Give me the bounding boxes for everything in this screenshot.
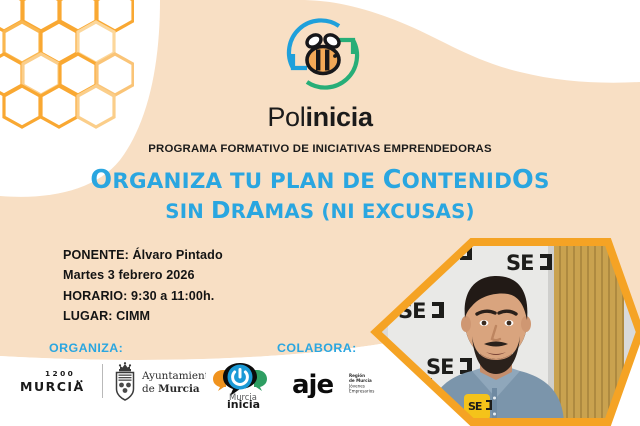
detail-speaker: PONENTE: Álvaro Pintado — [63, 245, 223, 265]
murcia-inicia-line2: inicia — [227, 398, 260, 408]
title-line-2: SIN DRAMAS (NI EXCUSAS) — [0, 197, 640, 223]
wordmark-bold: inicia — [305, 102, 372, 132]
organiza-label: ORGANIZA: — [49, 341, 123, 355]
colabora-label: COLABORA: — [277, 341, 357, 355]
detail-date: Martes 3 febrero 2026 — [63, 265, 223, 285]
organiza-logos: 1200 MURCIA — [14, 358, 264, 410]
aje-main-text: aje — [292, 370, 333, 398]
program-subtitle: PROGRAMA FORMATIVO DE INICIATIVAS EMPREN… — [0, 143, 640, 155]
poster-canvas: Polinicia PROGRAMA FORMATIVO DE INICIATI… — [0, 0, 640, 426]
detail-schedule: HORARIO: 9:30 a 11:00h. — [63, 286, 223, 306]
bee-in-circular-arrows-icon — [277, 8, 369, 100]
backdrop-ser-4: SE — [426, 355, 453, 379]
detail-place: LUGAR: CIMM — [63, 306, 223, 326]
event-details: PONENTE: Álvaro Pintado Martes 3 febrero… — [63, 245, 223, 327]
logo-divider — [102, 364, 103, 398]
mic-ser-label: SE — [468, 400, 482, 413]
murcia-coat-of-arms-icon — [117, 362, 134, 400]
speaker-photo-hexagon: SE SE SE SE — [368, 238, 640, 426]
title-line-1: ORGANIZA TU PLAN DE CONTENIDOS — [0, 166, 640, 195]
backdrop-ser-2: SE — [506, 251, 533, 275]
murcia-1200-top-text: 1200 — [45, 369, 75, 378]
ayuntamiento-de-murcia-logo: Ayuntamiento de Murcia — [111, 360, 206, 404]
ayuntamiento-line1: Ayuntamiento — [141, 370, 206, 382]
murcia-1200-main-text: MURCIA — [20, 379, 85, 394]
murcia-inicia-logo: Murcia inicia — [210, 358, 270, 408]
main-title: ORGANIZA TU PLAN DE CONTENIDOS SIN DRAMA… — [0, 166, 640, 223]
ayuntamiento-line2: de Murcia — [142, 383, 200, 395]
speaker-photo-image: SE SE SE SE — [368, 238, 640, 426]
wordmark-light: Pol — [267, 102, 305, 132]
murcia-1200-logo: 1200 MURCIA — [18, 366, 96, 398]
polinicia-wordmark: Polinicia — [0, 104, 640, 131]
